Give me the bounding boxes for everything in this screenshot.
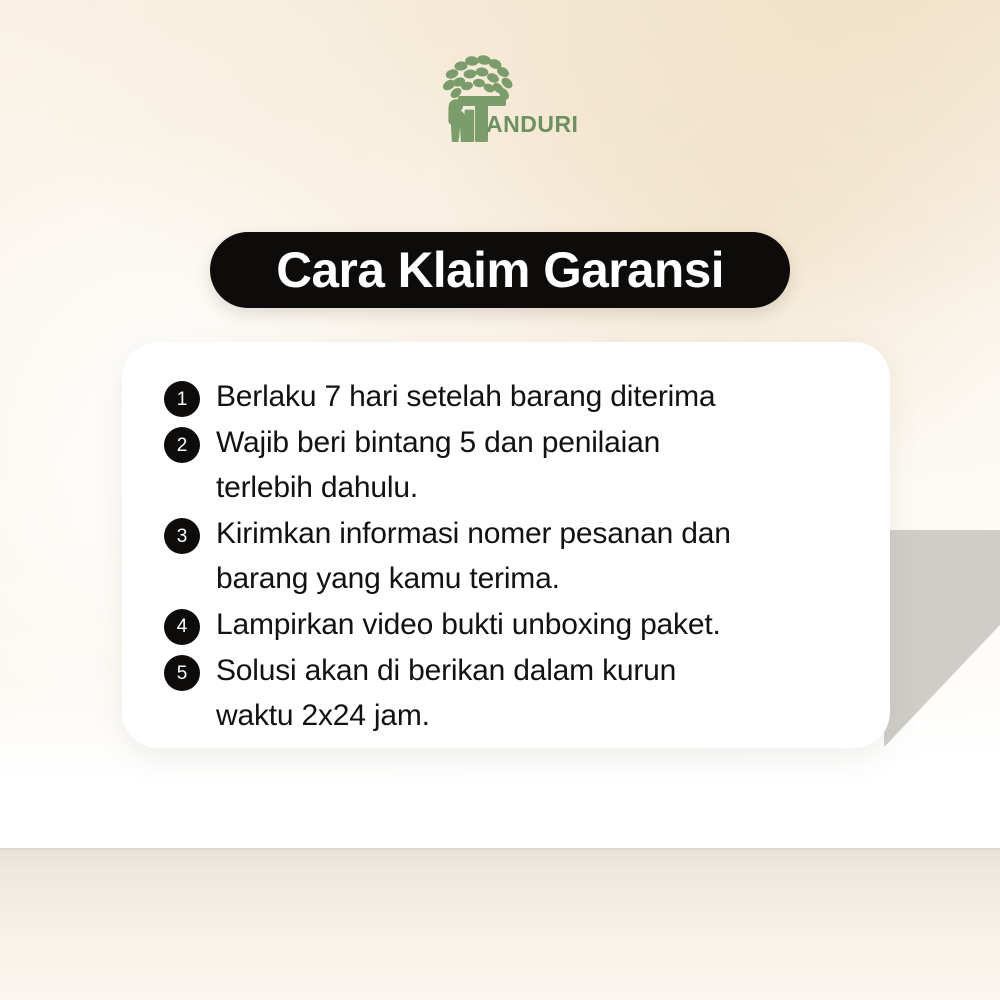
steps-list: 1 Berlaku 7 hari setelah barang diterima… [164,375,864,740]
list-item: 5 Solusi akan di berikan dalam kurun wak… [164,649,864,738]
brand-wordmark: ANDURI [486,113,578,136]
step-text: Lampirkan video bukti unboxing paket. [216,603,721,647]
brand-logo: ANDURI [0,52,1000,144]
step-text: Wajib beri bintang 5 dan penilaian terle… [216,421,660,510]
step-text: Berlaku 7 hari setelah barang diterima [216,375,715,419]
step-text: Solusi akan di berikan dalam kurun waktu… [216,649,676,738]
poster-canvas: ANDURI Cara Klaim Garansi 1 Berlaku 7 ha… [0,0,1000,1000]
list-item: 4 Lampirkan video bukti unboxing paket. [164,603,864,647]
step-number-badge: 4 [164,609,200,645]
step-number-badge: 1 [164,381,200,417]
steps-card: 1 Berlaku 7 hari setelah barang diterima… [122,342,890,748]
step-text: Kirimkan informasi nomer pesanan dan bar… [216,512,731,601]
step-number-badge: 5 [164,655,200,691]
brand-logo-inner: ANDURI [425,52,575,144]
list-item: 1 Berlaku 7 hari setelah barang diterima [164,375,864,419]
page-title: Cara Klaim Garansi [276,245,724,295]
page-title-pill: Cara Klaim Garansi [210,232,790,308]
list-item: 2 Wajib beri bintang 5 dan penilaian ter… [164,421,864,510]
step-number-badge: 2 [164,427,200,463]
list-item: 3 Kirimkan informasi nomer pesanan dan b… [164,512,864,601]
step-number-badge: 3 [164,518,200,554]
surface-edge [0,848,1000,1000]
